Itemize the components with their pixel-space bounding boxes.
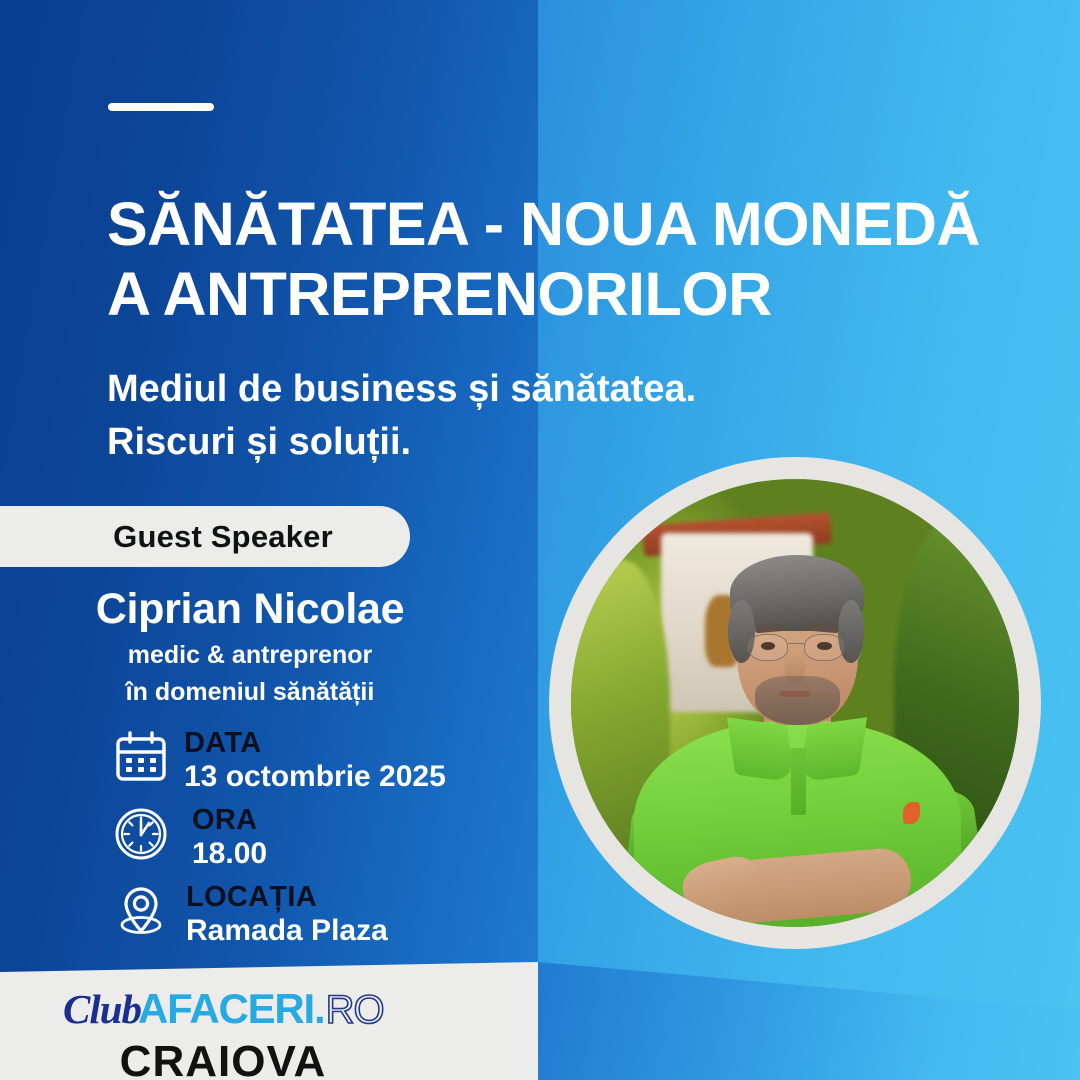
location-pin-icon — [110, 880, 172, 942]
detail-row-location: LOCAȚIA Ramada Plaza — [110, 880, 540, 946]
speaker-name: Ciprian Nicolae — [0, 584, 500, 634]
subtitle-line-1: Mediul de business și sănătatea. — [107, 363, 907, 416]
page-title: SĂNĂTATEA - NOUA MONEDĂ A ANTREPRENORILO… — [107, 189, 1007, 329]
event-poster: SĂNĂTATEA - NOUA MONEDĂ A ANTREPRENORILO… — [0, 0, 1080, 1080]
logo-afaceri-text: AFACERI — [138, 988, 314, 1030]
page-subtitle: Mediul de business și sănătatea. Riscuri… — [107, 363, 907, 469]
calendar-icon — [110, 726, 172, 788]
headline-line-1: SĂNĂTATEA - NOUA MONEDĂ — [107, 189, 1007, 259]
detail-value-location: Ramada Plaza — [186, 913, 388, 948]
detail-label-location: LOCAȚIA — [186, 882, 388, 913]
brand-logo: Club AFACERI . RO CRAIOVA — [63, 988, 483, 1080]
clock-icon — [110, 803, 172, 865]
logo-dot-text: . — [314, 988, 326, 1030]
detail-value-date: 13 octombrie 2025 — [184, 759, 446, 794]
detail-label-time: ORA — [192, 805, 267, 836]
detail-value-time: 18.00 — [192, 836, 267, 871]
logo-ro-text: RO — [326, 990, 384, 1030]
guest-speaker-label: Guest Speaker — [77, 519, 333, 555]
speaker-block: Ciprian Nicolae medic & antreprenor în d… — [0, 584, 500, 708]
speaker-role-line-2: în domeniul sănătății — [0, 676, 500, 708]
detail-row-time: ORA 18.00 — [110, 803, 540, 869]
photo-image — [571, 479, 1019, 927]
detail-row-date: DATA 13 octombrie 2025 — [110, 726, 540, 792]
guest-speaker-badge: Guest Speaker — [0, 506, 410, 567]
top-divider-rule — [108, 103, 214, 111]
detail-label-date: DATA — [184, 728, 446, 759]
logo-city-text: CRAIOVA — [63, 1037, 383, 1080]
speaker-role-line-1: medic & antreprenor — [0, 639, 500, 671]
detail-text-date: DATA 13 octombrie 2025 — [172, 726, 446, 794]
detail-text-location: LOCAȚIA Ramada Plaza — [172, 880, 388, 948]
event-details-list: DATA 13 octombrie 2025 — [110, 726, 540, 957]
logo-club-text: Club — [63, 989, 141, 1030]
detail-text-time: ORA 18.00 — [172, 803, 267, 871]
speaker-photo — [549, 457, 1041, 949]
brand-logo-wordmark: Club AFACERI . RO — [63, 988, 483, 1030]
headline-line-2: A ANTREPRENORILOR — [107, 259, 1007, 329]
